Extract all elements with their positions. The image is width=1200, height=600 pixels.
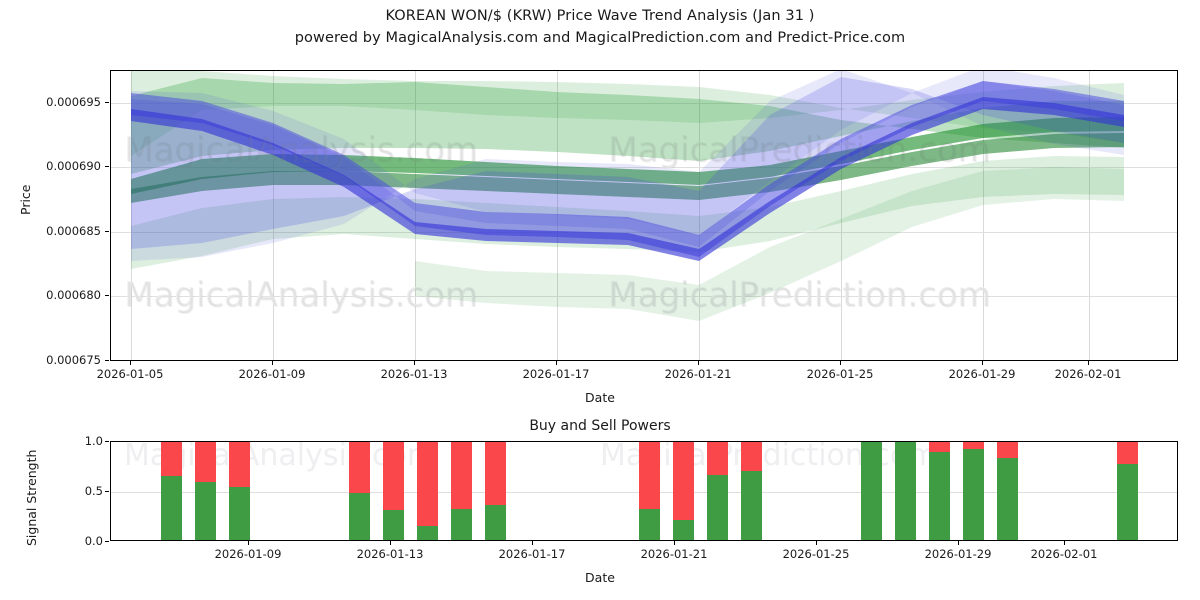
bar-group-2026-01-20 xyxy=(639,442,660,541)
bar-sell-10 xyxy=(707,442,728,475)
bar-sell-16 xyxy=(997,442,1018,458)
price-chart-axes: MagicalAnalysis.com MagicalPrediction.co… xyxy=(110,70,1178,361)
power-xtick-3: 2026-01-21 xyxy=(641,547,708,561)
power-xtickmark-5 xyxy=(958,541,959,545)
power-chart-title: Buy and Sell Powers xyxy=(0,418,1200,434)
bar-group-2026-01-15 xyxy=(451,442,472,541)
bar-sell-8 xyxy=(639,442,660,509)
price-xtick-2: 2026-01-13 xyxy=(381,367,448,381)
bar-sell-9 xyxy=(673,442,694,520)
bar-buy-10 xyxy=(707,475,728,541)
bar-buy-9 xyxy=(673,520,694,541)
price-ytickmark-4 xyxy=(105,102,109,103)
bar-sell-6 xyxy=(451,442,472,509)
power-ytickmark-2 xyxy=(105,441,109,442)
bar-group-2026-01-23 xyxy=(741,442,762,541)
power-xtick-5: 2026-01-29 xyxy=(925,547,992,561)
bar-buy-15 xyxy=(963,449,984,541)
power-y-axis-label: Signal Strength xyxy=(24,450,39,546)
figure-root: KOREAN WON/$ (KRW) Price Wave Trend Anal… xyxy=(0,0,1200,600)
price-xtick-3: 2026-01-17 xyxy=(523,367,590,381)
power-xtickmark-4 xyxy=(816,541,817,545)
power-ytick-1: 0.5 xyxy=(85,484,103,498)
bar-group-2026-01-26 xyxy=(861,442,882,541)
bar-buy-6 xyxy=(451,509,472,541)
price-xtick-7: 2026-02-01 xyxy=(1055,367,1122,381)
bar-buy-12 xyxy=(861,442,882,541)
power-y-axis: 0.0 0.5 1.0 xyxy=(0,0,103,600)
price-ytickmark-0 xyxy=(105,360,109,361)
bar-buy-2 xyxy=(229,487,250,541)
bar-buy-14 xyxy=(929,452,950,541)
bar-buy-5 xyxy=(417,526,438,541)
power-xtickmark-1 xyxy=(390,541,391,545)
power-xtick-2: 2026-01-17 xyxy=(499,547,566,561)
price-y-axis-label: Price xyxy=(18,185,33,216)
bar-group-2026-02-02 xyxy=(1117,442,1138,541)
bar-group-2026-01-08 xyxy=(229,442,250,541)
price-xtickmark-6 xyxy=(982,361,983,365)
price-xtickmark-7 xyxy=(1088,361,1089,365)
bar-sell-7 xyxy=(485,442,506,505)
power-ytickmark-0 xyxy=(105,541,109,542)
price-ytickmark-1 xyxy=(105,295,109,296)
bar-group-2026-01-13 xyxy=(383,442,404,541)
bar-group-2026-01-14 xyxy=(417,442,438,541)
bar-group-2026-01-30 xyxy=(997,442,1018,541)
bar-sell-14 xyxy=(929,442,950,452)
price-ytick-4: 0.000695 xyxy=(46,95,101,109)
bar-sell-11 xyxy=(741,442,762,471)
bar-sell-1 xyxy=(195,442,216,482)
bar-group-2026-01-16 xyxy=(485,442,506,541)
price-xtickmark-4 xyxy=(698,361,699,365)
price-xtick-0: 2026-01-05 xyxy=(97,367,164,381)
power-bars xyxy=(111,442,1178,541)
bar-buy-1 xyxy=(195,482,216,541)
bar-group-2026-01-29 xyxy=(963,442,984,541)
bar-buy-0 xyxy=(161,476,182,541)
bar-group-2026-01-06 xyxy=(161,442,182,541)
price-xtickmark-0 xyxy=(130,361,131,365)
price-ytickmark-2 xyxy=(105,231,109,232)
price-xtickmark-5 xyxy=(840,361,841,365)
price-ytick-0: 0.000675 xyxy=(46,353,101,367)
power-xtickmark-0 xyxy=(248,541,249,545)
power-ytick-0: 0.0 xyxy=(85,534,103,548)
price-wave-bands xyxy=(111,71,1178,361)
bar-buy-4 xyxy=(383,510,404,541)
bar-sell-0 xyxy=(161,442,182,476)
bar-buy-7 xyxy=(485,505,506,541)
power-chart-axes xyxy=(110,441,1178,541)
price-xtickmark-3 xyxy=(556,361,557,365)
price-xtick-1: 2026-01-09 xyxy=(239,367,306,381)
bar-buy-16 xyxy=(997,458,1018,541)
power-xtick-0: 2026-01-09 xyxy=(215,547,282,561)
price-xtickmark-1 xyxy=(272,361,273,365)
power-ytick-2: 1.0 xyxy=(85,434,103,448)
price-xtick-5: 2026-01-25 xyxy=(807,367,874,381)
bar-sell-4 xyxy=(383,442,404,510)
chart-title-line2: powered by MagicalAnalysis.com and Magic… xyxy=(0,30,1200,46)
power-xtick-1: 2026-01-13 xyxy=(357,547,424,561)
price-y-axis: 0.000675 0.000680 0.000685 0.000690 0.00… xyxy=(0,0,101,600)
price-ytick-2: 0.000685 xyxy=(46,224,101,238)
price-xtickmark-2 xyxy=(414,361,415,365)
bar-buy-3 xyxy=(349,493,370,541)
bar-group-2026-01-22 xyxy=(707,442,728,541)
price-xtick-4: 2026-01-21 xyxy=(665,367,732,381)
price-ytickmark-3 xyxy=(105,166,109,167)
bar-buy-13 xyxy=(895,442,916,541)
bar-group-2026-01-27 xyxy=(895,442,916,541)
power-ytickmark-1 xyxy=(105,491,109,492)
power-xtickmark-3 xyxy=(674,541,675,545)
power-x-axis-label: Date xyxy=(0,570,1200,585)
bar-buy-17 xyxy=(1117,464,1138,541)
price-ytick-3: 0.000690 xyxy=(46,159,101,173)
power-xtick-4: 2026-01-25 xyxy=(783,547,850,561)
bar-group-2026-01-12 xyxy=(349,442,370,541)
bar-sell-17 xyxy=(1117,442,1138,464)
bar-sell-15 xyxy=(963,442,984,449)
bar-buy-8 xyxy=(639,509,660,541)
price-ytick-1: 0.000680 xyxy=(46,288,101,302)
bar-sell-2 xyxy=(229,442,250,487)
bar-group-2026-01-07 xyxy=(195,442,216,541)
power-xtickmark-2 xyxy=(532,541,533,545)
price-xtick-6: 2026-01-29 xyxy=(949,367,1016,381)
price-x-axis-label: Date xyxy=(0,390,1200,405)
bar-buy-11 xyxy=(741,471,762,541)
bar-group-2026-01-21 xyxy=(673,442,694,541)
power-xtick-6: 2026-02-01 xyxy=(1031,547,1098,561)
bar-sell-3 xyxy=(349,442,370,493)
bar-sell-5 xyxy=(417,442,438,526)
power-xtickmark-6 xyxy=(1064,541,1065,545)
bar-group-2026-01-28 xyxy=(929,442,950,541)
chart-title-line1: KOREAN WON/$ (KRW) Price Wave Trend Anal… xyxy=(0,8,1200,24)
